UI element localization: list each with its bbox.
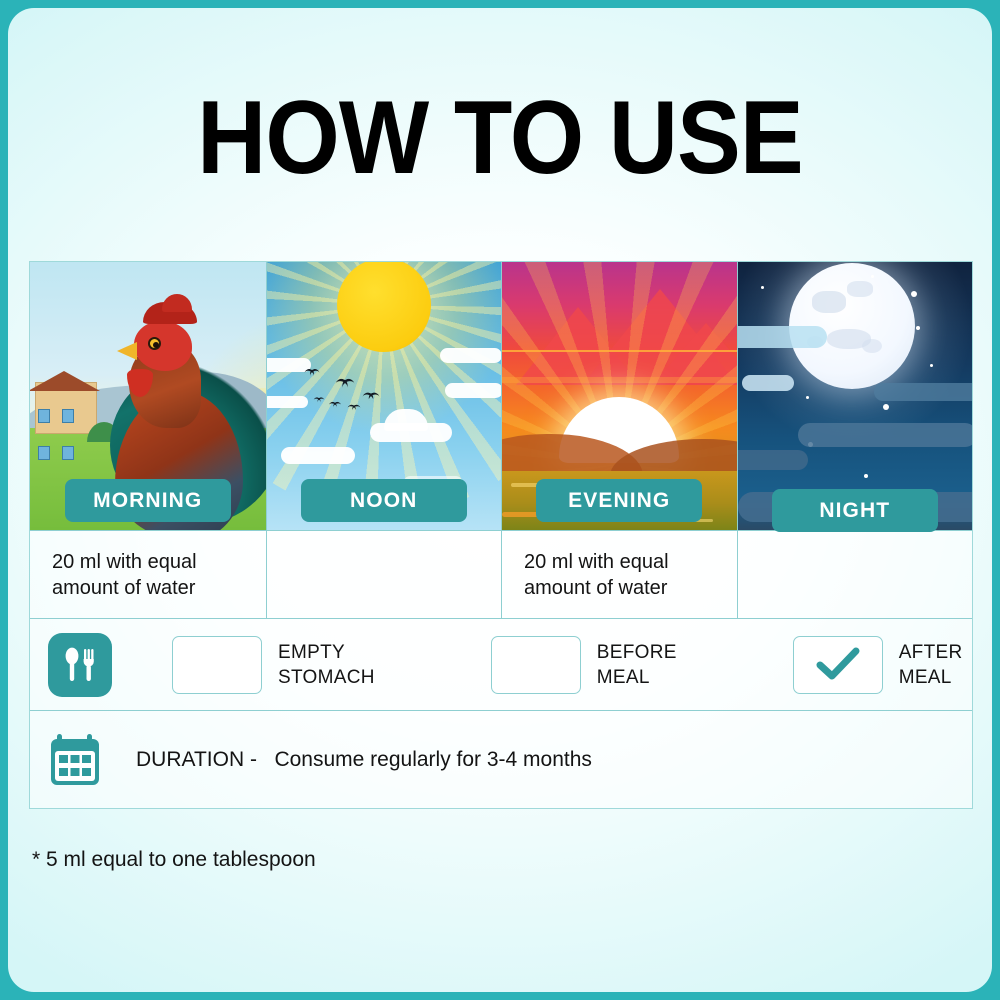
time-of-day-cell-night: NIGHT — [737, 262, 973, 530]
dosage-line: amount of water — [524, 575, 669, 601]
dosage-cell-evening: 20 ml with equal amount of water — [501, 531, 737, 618]
checkbox-before-meal[interactable] — [491, 636, 581, 694]
meal-label-after-meal: AFTER MEAL — [899, 640, 963, 690]
horizon-band — [502, 350, 737, 352]
dosage-cell-noon — [266, 531, 502, 618]
dosage-text-morning: 20 ml with equal amount of water — [52, 549, 197, 601]
window-icon — [62, 409, 74, 423]
time-of-day-cell-morning: MORNING — [30, 262, 266, 530]
rooster-beak — [117, 342, 137, 360]
duration-text: DURATION - Consume regularly for 3-4 mon… — [136, 748, 592, 772]
moon-crater — [847, 281, 873, 297]
rooster-head — [134, 321, 192, 371]
moon-crater — [812, 291, 846, 313]
dosage-line: 20 ml with equal — [524, 549, 669, 575]
star-icon — [864, 474, 868, 478]
time-of-day-row: MORNING — [30, 262, 972, 530]
time-of-day-label-noon: NOON — [301, 479, 467, 522]
cloud-icon — [874, 383, 973, 401]
meal-label-empty-stomach: EMPTY STOMACH — [278, 640, 375, 690]
time-of-day-label-night: NIGHT — [772, 489, 938, 532]
cloud-icon — [445, 383, 501, 398]
dosage-line: amount of water — [52, 575, 197, 601]
poster-frame: HOW TO USE — [0, 0, 1000, 1000]
rooster-eye — [148, 337, 161, 350]
spoon-fork-icon — [48, 633, 112, 697]
window-icon — [38, 446, 50, 460]
meal-label-line: EMPTY — [278, 640, 375, 665]
bird-icon — [329, 402, 342, 409]
duration-value: Consume regularly for 3-4 months — [274, 748, 591, 771]
cloud-icon — [267, 396, 308, 408]
cloud-icon — [798, 423, 972, 447]
cloud-icon — [742, 375, 794, 391]
bird-icon — [313, 397, 324, 403]
star-icon — [930, 364, 933, 367]
star-icon — [883, 404, 889, 410]
time-of-day-label-evening: EVENING — [536, 479, 702, 522]
cloud-icon — [883, 460, 972, 482]
how-to-use-table: MORNING — [29, 261, 973, 809]
window-icon — [62, 446, 74, 460]
checkbox-after-meal[interactable] — [793, 636, 883, 694]
meal-label-before-meal: BEFORE MEAL — [597, 640, 677, 690]
window-icon — [38, 409, 50, 423]
meal-label-line: STOMACH — [278, 665, 375, 690]
rooster-comb-back — [162, 294, 192, 312]
dosage-text-evening: 20 ml with equal amount of water — [524, 549, 669, 601]
meal-label-line: MEAL — [597, 665, 677, 690]
time-of-day-cell-noon: NOON — [266, 262, 502, 530]
meal-label-line: BEFORE — [597, 640, 677, 665]
cloud-icon — [281, 447, 355, 464]
duration-content: DURATION - Consume regularly for 3-4 mon… — [30, 711, 972, 808]
meal-timing-row: EMPTY STOMACH BEFORE MEAL — [30, 618, 972, 710]
bird-icon — [347, 405, 361, 413]
time-of-day-cell-evening: EVENING — [501, 262, 737, 530]
meal-timing-content: EMPTY STOMACH BEFORE MEAL — [30, 619, 972, 710]
bird-icon — [304, 369, 320, 378]
footnote: * 5 ml equal to one tablespoon — [32, 848, 316, 872]
checkbox-empty-stomach[interactable] — [172, 636, 262, 694]
dosage-cell-night — [737, 531, 973, 618]
star-icon — [806, 396, 809, 399]
poster-card: HOW TO USE — [8, 8, 992, 992]
dosage-cell-morning: 20 ml with equal amount of water — [30, 531, 266, 618]
horizon-band — [502, 377, 737, 383]
time-of-day-label-morning: MORNING — [65, 479, 231, 522]
bird-icon — [362, 393, 380, 403]
duration-row: DURATION - Consume regularly for 3-4 mon… — [30, 710, 972, 808]
dosage-row: 20 ml with equal amount of water 20 ml w… — [30, 530, 972, 618]
page-title: HOW TO USE — [47, 86, 952, 190]
moon-crater — [862, 339, 882, 353]
meal-label-line: AFTER — [899, 640, 963, 665]
sun-icon — [337, 262, 431, 352]
cloud-icon — [738, 326, 827, 348]
cloud-icon — [738, 450, 808, 470]
check-icon — [814, 645, 862, 685]
dosage-line: 20 ml with equal — [52, 549, 197, 575]
meal-label-line: MEAL — [899, 665, 963, 690]
farmhouse-roof — [30, 371, 100, 391]
bird-icon — [335, 379, 355, 390]
calendar-icon — [48, 726, 116, 794]
cloud-icon — [384, 409, 428, 431]
duration-label: DURATION - — [136, 748, 257, 771]
cloud-icon — [440, 348, 501, 363]
